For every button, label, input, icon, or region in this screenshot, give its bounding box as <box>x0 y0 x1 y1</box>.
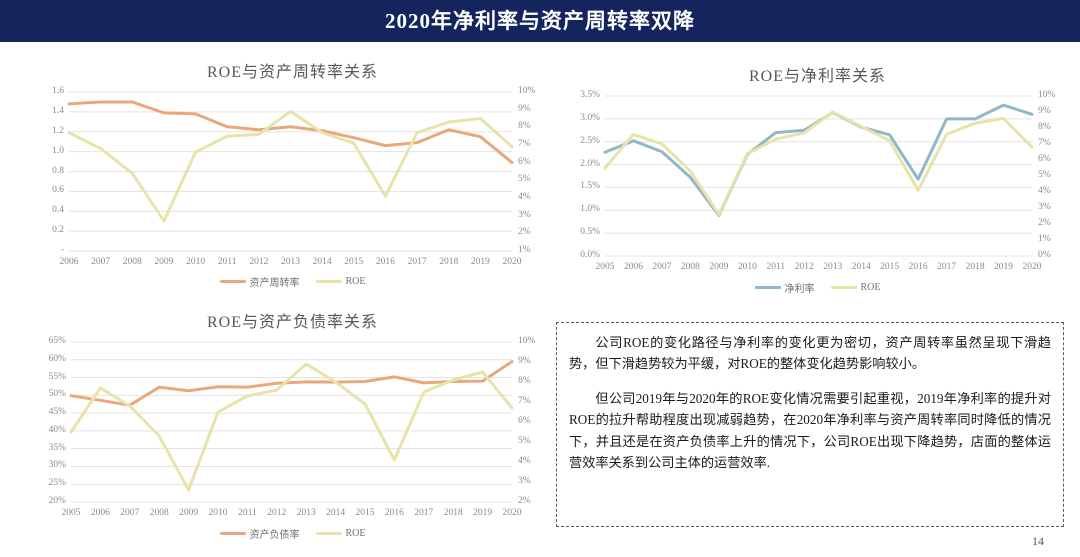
slide-title: 2020年净利率与资产周转率双降 <box>0 0 1080 42</box>
plot-area-3: 65%60%55%50%45%40%35%30%25%20%10%9%8%7%6… <box>35 334 550 530</box>
y-axis-right-tick: 8% <box>518 377 531 387</box>
y-axis-left-tick: 0.0% <box>565 251 600 261</box>
legend-item-net-margin: 净利率 <box>755 280 815 295</box>
x-axis-tick: 2018 <box>433 258 465 268</box>
y-axis-left-tick: 3.5% <box>565 91 600 101</box>
y-axis-left-tick: 2.0% <box>565 160 600 170</box>
y-axis-right-tick: 8% <box>1038 123 1051 133</box>
x-axis-tick: 2020 <box>1016 263 1048 273</box>
y-axis-left-tick: 30% <box>35 461 66 471</box>
page-number: 14 <box>1032 534 1044 549</box>
x-axis-tick: 2015 <box>874 263 906 273</box>
y-axis-right-tick: 8% <box>518 122 531 132</box>
legend-label-asset-turnover: 资产周转率 <box>250 274 300 289</box>
chart-roe-net-margin: ROE与净利率关系 3.5%3.0%2.5%2.0%1.5%1.0%0.5%0.… <box>565 62 1070 312</box>
x-axis-tick: 2006 <box>84 509 116 519</box>
y-axis-right-tick: 10% <box>1038 91 1055 101</box>
y-axis-right-tick: 2% <box>518 228 531 238</box>
y-axis-right-tick: 4% <box>1038 187 1051 197</box>
x-axis-tick: 2006 <box>53 258 85 268</box>
legend-swatch-roe <box>316 280 342 284</box>
y-axis-left-tick: 0.8 <box>35 167 64 177</box>
y-axis-right-tick: 5% <box>518 437 531 447</box>
y-axis-left-tick: 40% <box>35 426 66 436</box>
y-axis-right-tick: 0% <box>1038 251 1051 261</box>
y-axis-left-tick: 1.6 <box>35 87 64 97</box>
y-axis-right-tick: 7% <box>518 140 531 150</box>
legend-swatch-roe-2 <box>831 286 857 290</box>
chart-canvas <box>35 84 550 279</box>
x-axis-tick: 2007 <box>85 258 117 268</box>
x-axis-tick: 2007 <box>646 263 678 273</box>
x-axis-tick: 2012 <box>243 258 275 268</box>
y-axis-left-tick: 0.5% <box>565 228 600 238</box>
chart-legend-3: 资产负债率 ROE <box>35 526 550 541</box>
y-axis-left-tick: 45% <box>35 408 66 418</box>
y-axis-right-tick: 6% <box>1038 155 1051 165</box>
chart-roe-debt-ratio: ROE与资产负债率关系 65%60%55%50%45%40%35%30%25%2… <box>35 308 550 556</box>
chart-title-1: ROE与资产周转率关系 <box>35 58 550 82</box>
legend-item-debt-ratio: 资产负债率 <box>220 526 300 541</box>
legend-label-net-margin: 净利率 <box>785 280 815 295</box>
x-axis-tick: 2013 <box>275 258 307 268</box>
y-axis-right-tick: 7% <box>1038 139 1051 149</box>
y-axis-left-tick: 50% <box>35 390 66 400</box>
x-axis-tick: 2007 <box>114 509 146 519</box>
y-axis-left-tick: 1.0 <box>35 147 64 157</box>
x-axis-tick: 2019 <box>988 263 1020 273</box>
legend-item-roe: ROE <box>316 276 366 287</box>
chart-title-3: ROE与资产负债率关系 <box>35 308 550 332</box>
commentary-paragraph-1: 公司ROE的变化路径与净利率的变化更为密切，资产周转率虽然呈现下滑趋势，但下滑趋… <box>569 332 1051 375</box>
x-axis-tick: 2008 <box>116 258 148 268</box>
legend-label-debt-ratio: 资产负债率 <box>250 526 300 541</box>
legend-swatch-debt-ratio <box>220 532 246 536</box>
x-axis-tick: 2020 <box>496 509 528 519</box>
x-axis-tick: 2020 <box>496 258 528 268</box>
y-axis-left-tick: 25% <box>35 479 66 489</box>
x-axis-tick: 2009 <box>148 258 180 268</box>
y-axis-right-tick: 2% <box>518 497 531 507</box>
y-axis-right-tick: 3% <box>518 211 531 221</box>
y-axis-right-tick: 1% <box>518 246 531 256</box>
y-axis-right-tick: 9% <box>518 105 531 115</box>
chart-roe-asset-turnover: ROE与资产周转率关系 1.61.41.21.00.80.60.40.2-10%… <box>35 58 550 303</box>
legend-label-roe: ROE <box>346 276 366 287</box>
x-axis-tick: 2010 <box>180 258 212 268</box>
legend-label-roe-3: ROE <box>346 528 366 539</box>
legend-swatch-roe-3 <box>316 532 342 536</box>
x-axis-tick: 2013 <box>817 263 849 273</box>
y-axis-right-tick: 3% <box>518 477 531 487</box>
slide-header-bar: 2020年净利率与资产周转率双降 <box>0 0 1080 42</box>
x-axis-tick: 2005 <box>589 263 621 273</box>
legend-swatch-net-margin <box>755 286 781 290</box>
y-axis-left-tick: 60% <box>35 355 66 365</box>
legend-label-roe-2: ROE <box>861 282 881 293</box>
y-axis-left-tick: 1.0% <box>565 205 600 215</box>
x-axis-tick: 2008 <box>143 509 175 519</box>
chart-canvas <box>565 88 1070 284</box>
x-axis-tick: 2018 <box>959 263 991 273</box>
legend-item-roe-3: ROE <box>316 528 366 539</box>
y-axis-left-tick: 1.4 <box>35 107 64 117</box>
y-axis-right-tick: 3% <box>1038 203 1051 213</box>
y-axis-left-tick: 0.2 <box>35 226 64 236</box>
x-axis-tick: 2009 <box>703 263 735 273</box>
y-axis-right-tick: 5% <box>1038 171 1051 181</box>
x-axis-tick: 2009 <box>173 509 205 519</box>
x-axis-tick: 2013 <box>290 509 322 519</box>
y-axis-right-tick: 10% <box>518 87 535 97</box>
x-axis-tick: 2010 <box>202 509 234 519</box>
x-axis-tick: 2017 <box>408 509 440 519</box>
chart-legend-1: 资产周转率 ROE <box>35 274 550 289</box>
plot-area-2: 3.5%3.0%2.5%2.0%1.5%1.0%0.5%0.0%10%9%8%7… <box>565 88 1070 284</box>
y-axis-right-tick: 7% <box>518 397 531 407</box>
y-axis-left-tick: 35% <box>35 444 66 454</box>
y-axis-left-tick: 65% <box>35 337 66 347</box>
x-axis-tick: 2008 <box>674 263 706 273</box>
x-axis-tick: 2016 <box>902 263 934 273</box>
series-line-1 <box>605 112 1032 214</box>
x-axis-tick: 2010 <box>731 263 763 273</box>
y-axis-right-tick: 5% <box>518 175 531 185</box>
y-axis-left-tick: 0.4 <box>35 206 64 216</box>
chart-legend-2: 净利率 ROE <box>565 280 1070 295</box>
y-axis-right-tick: 10% <box>518 337 535 347</box>
y-axis-left-tick: 1.2 <box>35 127 64 137</box>
chart-title-2: ROE与净利率关系 <box>565 62 1070 86</box>
y-axis-left-tick: 20% <box>35 497 66 507</box>
x-axis-tick: 2012 <box>788 263 820 273</box>
y-axis-left-tick: 1.5% <box>565 182 600 192</box>
y-axis-left-tick: 55% <box>35 373 66 383</box>
y-axis-right-tick: 4% <box>518 193 531 203</box>
y-axis-right-tick: 9% <box>518 357 531 367</box>
x-axis-tick: 2015 <box>349 509 381 519</box>
legend-swatch-asset-turnover <box>220 280 246 284</box>
chart-canvas <box>35 334 550 530</box>
plot-area-1: 1.61.41.21.00.80.60.40.2-10%9%8%7%6%5%4%… <box>35 84 550 279</box>
x-axis-tick: 2016 <box>369 258 401 268</box>
x-axis-tick: 2017 <box>401 258 433 268</box>
legend-item-asset-turnover: 资产周转率 <box>220 274 300 289</box>
y-axis-right-tick: 6% <box>518 158 531 168</box>
x-axis-tick: 2014 <box>845 263 877 273</box>
x-axis-tick: 2017 <box>931 263 963 273</box>
commentary-paragraph-2: 但公司2019年与2020年的ROE变化情况需要引起重视，2019年净利率的提升… <box>569 388 1051 474</box>
x-axis-tick: 2019 <box>467 509 499 519</box>
legend-item-roe-2: ROE <box>831 282 881 293</box>
slide-root: 2020年净利率与资产周转率双降 ROE与资产周转率关系 1.61.41.21.… <box>0 0 1080 557</box>
x-axis-tick: 2014 <box>320 509 352 519</box>
x-axis-tick: 2011 <box>211 258 243 268</box>
x-axis-tick: 2018 <box>437 509 469 519</box>
y-axis-right-tick: 9% <box>1038 107 1051 117</box>
x-axis-tick: 2005 <box>55 509 87 519</box>
y-axis-right-tick: 1% <box>1038 235 1051 245</box>
x-axis-tick: 2011 <box>760 263 792 273</box>
y-axis-left-tick: - <box>35 246 64 256</box>
x-axis-tick: 2016 <box>378 509 410 519</box>
x-axis-tick: 2012 <box>261 509 293 519</box>
y-axis-right-tick: 4% <box>518 457 531 467</box>
x-axis-tick: 2019 <box>464 258 496 268</box>
x-axis-tick: 2015 <box>338 258 370 268</box>
y-axis-right-tick: 2% <box>1038 219 1051 229</box>
x-axis-tick: 2011 <box>231 509 263 519</box>
y-axis-left-tick: 2.5% <box>565 137 600 147</box>
y-axis-left-tick: 3.0% <box>565 114 600 124</box>
y-axis-left-tick: 0.6 <box>35 186 64 196</box>
x-axis-tick: 2014 <box>306 258 338 268</box>
y-axis-right-tick: 6% <box>518 417 531 427</box>
commentary-box: 公司ROE的变化路径与净利率的变化更为密切，资产周转率虽然呈现下滑趋势，但下滑趋… <box>556 322 1064 527</box>
x-axis-tick: 2006 <box>617 263 649 273</box>
